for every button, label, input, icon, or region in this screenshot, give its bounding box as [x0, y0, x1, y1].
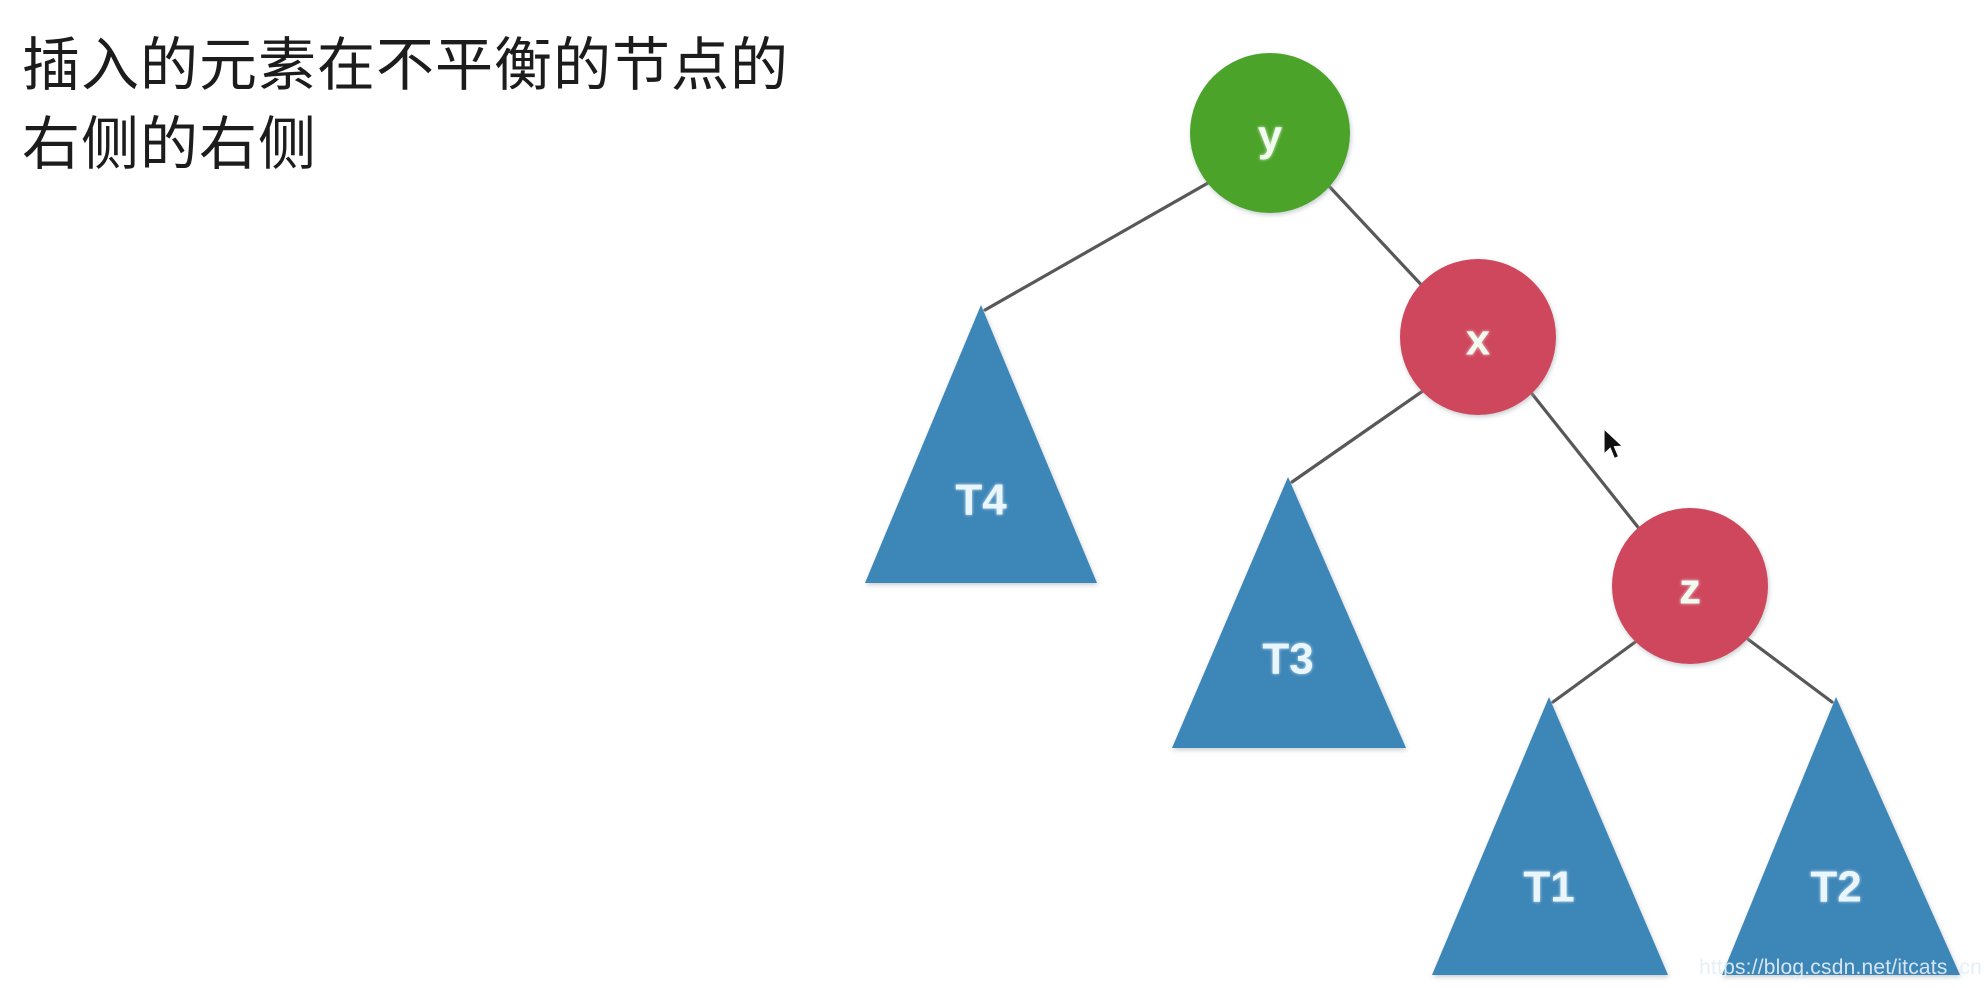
edge-y-to-T4 — [985, 183, 1208, 310]
node-label-y: y — [1258, 112, 1283, 161]
node-label-z: z — [1679, 565, 1701, 614]
subtree-label-T1: T1 — [1523, 863, 1574, 912]
watermark-text: https://blog.csdn.net/itcats_cn — [1699, 956, 1982, 980]
subtree-triangles — [865, 305, 1960, 975]
edge-z-to-T1 — [1553, 640, 1638, 702]
subtree-triangle-T1[interactable] — [1432, 697, 1668, 975]
subtree-label-T2: T2 — [1810, 863, 1861, 912]
subtree-label-T3: T3 — [1262, 635, 1313, 684]
edge-x-to-z — [1529, 390, 1645, 536]
subtree-triangle-T4[interactable] — [865, 305, 1097, 583]
subtree-triangle-T3[interactable] — [1172, 477, 1406, 748]
edge-x-to-T3 — [1292, 386, 1430, 482]
subtree-label-T4: T4 — [955, 476, 1007, 525]
node-label-x: x — [1466, 316, 1491, 365]
diagram-canvas: 插入的元素在不平衡的节点的 右侧的右侧 T4 — [0, 0, 1984, 988]
edge-z-to-T2 — [1745, 637, 1832, 702]
edge-y-to-x — [1327, 184, 1428, 292]
subtree-triangle-T2[interactable] — [1722, 697, 1960, 975]
avl-tree-diagram: T4 T3 T1 T2 y x z — [0, 0, 1984, 988]
